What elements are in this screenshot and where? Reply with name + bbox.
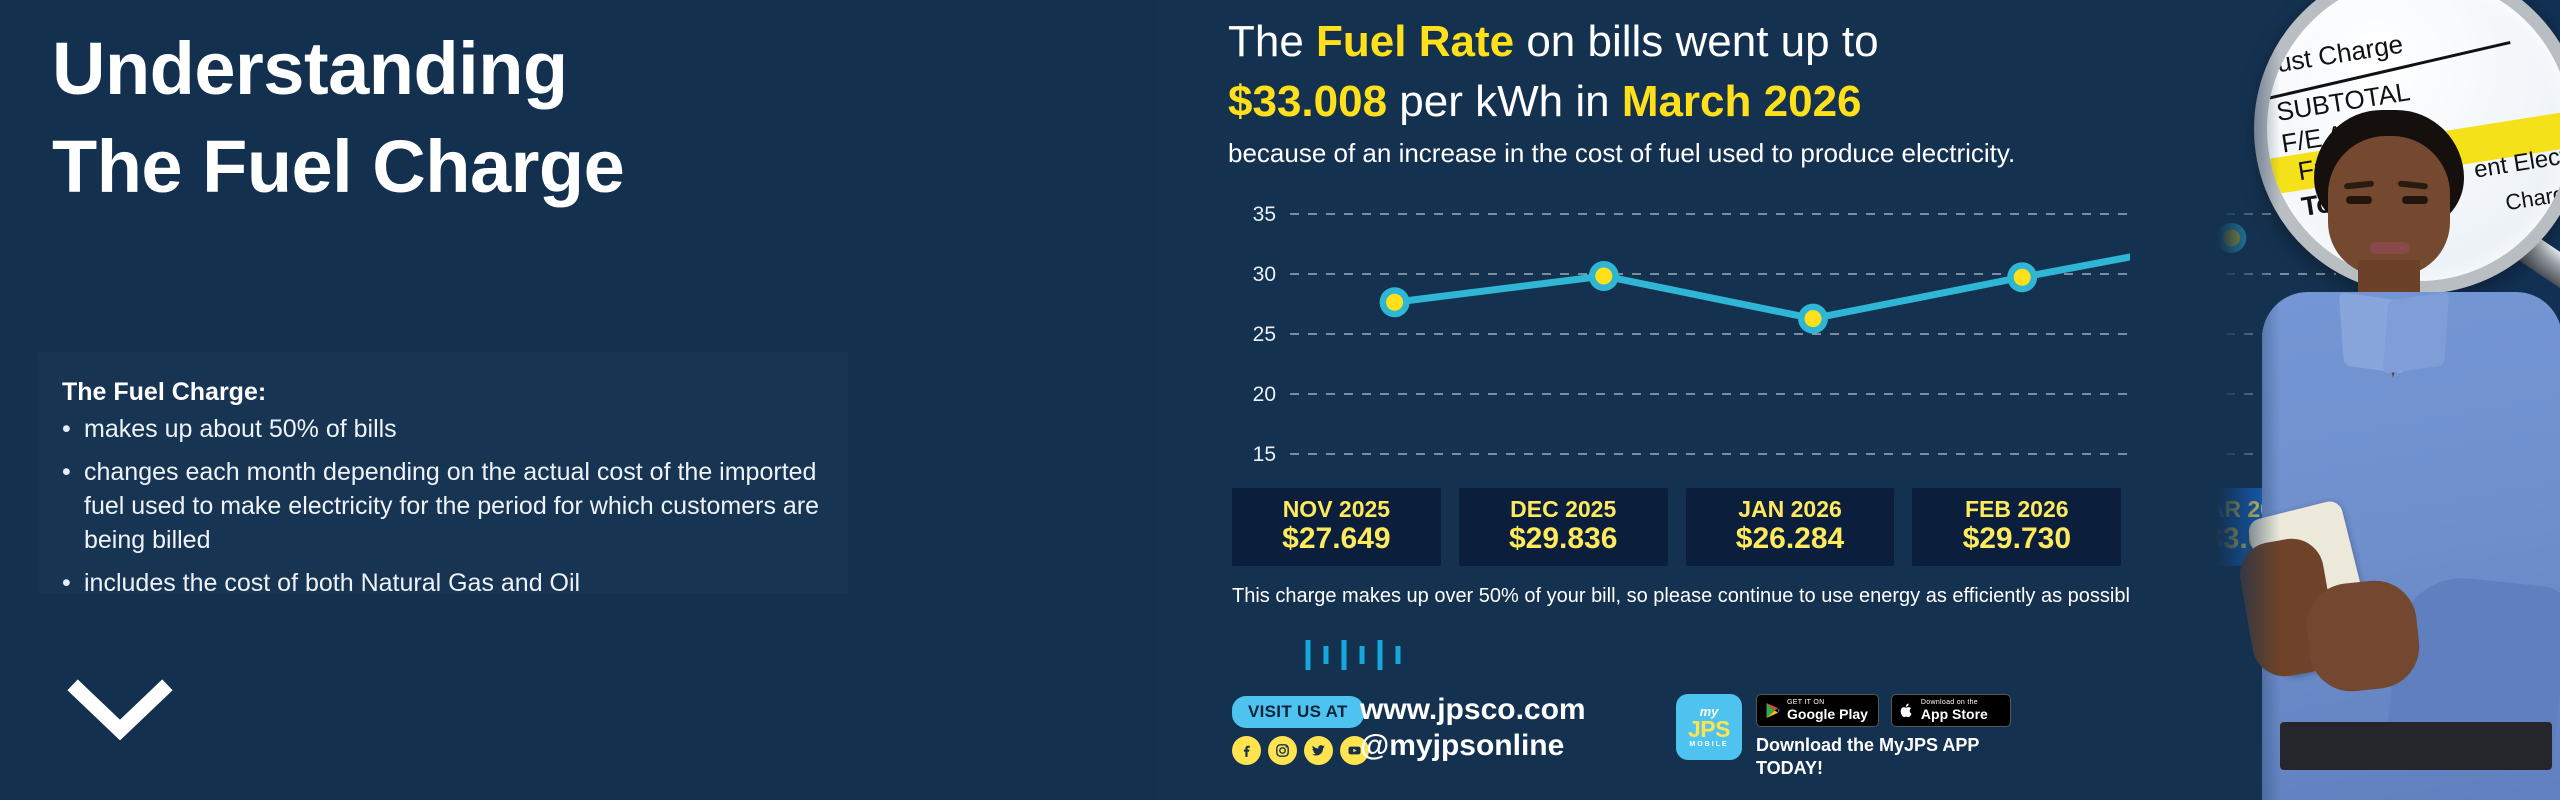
list-item: • includes the cost of both Natural Gas … bbox=[62, 566, 822, 600]
headline-line-1: Understanding bbox=[52, 20, 1092, 118]
store-badges-column: GET IT ON Google Play Download on the Ap… bbox=[1756, 694, 2011, 780]
month-label: DEC 2025 bbox=[1463, 496, 1664, 522]
bullet-icon: • bbox=[62, 566, 84, 600]
bullet-icon: • bbox=[62, 412, 84, 446]
headline-line-2: The Fuel Charge bbox=[52, 118, 1092, 216]
person-face bbox=[2328, 136, 2450, 276]
app-store-bottom: App Store bbox=[1921, 707, 1988, 722]
svg-text:15: 15 bbox=[1253, 443, 1276, 466]
left-panel: Understanding The Fuel Charge The Fuel C… bbox=[0, 0, 1156, 800]
contact-links: www.jpsco.com @myjpsonline bbox=[1360, 692, 1586, 764]
svg-text:25: 25 bbox=[1253, 323, 1276, 346]
svg-text:35: 35 bbox=[1253, 203, 1276, 226]
month-value: $29.836 bbox=[1463, 522, 1664, 556]
chart-y-axis-labels: 3530252015 bbox=[1253, 203, 1276, 466]
bullet-icon: • bbox=[62, 455, 84, 489]
person-mouth bbox=[2370, 242, 2410, 254]
person-hand-right bbox=[2303, 577, 2424, 696]
apple-icon bbox=[1900, 702, 1914, 719]
instagram-icon[interactable] bbox=[1268, 736, 1297, 765]
download-cta-line-2: TODAY! bbox=[1756, 757, 2011, 780]
download-cta: Download the MyJPS APP TODAY! bbox=[1756, 734, 2011, 780]
social-handle[interactable]: @myjpsonline bbox=[1360, 728, 1586, 764]
rate-line1-pre: The bbox=[1228, 17, 1316, 66]
rate-line2-mid: per kWh in bbox=[1387, 77, 1622, 126]
month-box-jan[interactable]: JAN 2026 $26.284 bbox=[1686, 488, 1895, 566]
website-link[interactable]: www.jpsco.com bbox=[1360, 692, 1586, 728]
store-badges-row: GET IT ON Google Play Download on the Ap… bbox=[1756, 694, 2011, 727]
svg-text:20: 20 bbox=[1253, 383, 1276, 406]
month-box-dec[interactable]: DEC 2025 $29.836 bbox=[1459, 488, 1668, 566]
myjps-logo-jps: JPS bbox=[1688, 718, 1730, 740]
twitter-icon[interactable] bbox=[1304, 736, 1333, 765]
page-title: Understanding The Fuel Charge bbox=[52, 20, 1092, 215]
myjps-logo-mobile: MOBILE bbox=[1689, 740, 1728, 749]
google-play-bottom: Google Play bbox=[1787, 707, 1868, 722]
person-eye-left bbox=[2346, 196, 2372, 204]
app-store-button[interactable]: Download on the App Store bbox=[1891, 694, 2011, 727]
rate-month: March 2026 bbox=[1622, 77, 1862, 126]
myjps-app-logo: my JPS MOBILE bbox=[1676, 694, 1742, 760]
month-label: FEB 2026 bbox=[1916, 496, 2117, 522]
month-label: NOV 2025 bbox=[1236, 496, 1437, 522]
rate-line1-highlight: Fuel Rate bbox=[1316, 17, 1514, 66]
month-label: JAN 2026 bbox=[1690, 496, 1891, 522]
social-links bbox=[1232, 736, 1369, 765]
visit-us-badge[interactable]: VISIT US AT bbox=[1232, 696, 1364, 728]
month-value: $29.730 bbox=[1916, 522, 2117, 556]
google-play-icon bbox=[1765, 702, 1780, 719]
banner-root: Understanding The Fuel Charge The Fuel C… bbox=[0, 0, 2560, 800]
list-item: • changes each month depending on the ac… bbox=[62, 455, 822, 557]
facts-title: The Fuel Charge: bbox=[62, 378, 266, 407]
panel-edge-fade bbox=[2130, 0, 2280, 800]
list-item-label: changes each month depending on the actu… bbox=[84, 455, 822, 557]
list-item: • makes up about 50% of bills bbox=[62, 412, 822, 446]
chart-markers bbox=[1380, 223, 2247, 334]
rate-line1-post: on bills went up to bbox=[1514, 17, 1878, 66]
month-box-nov[interactable]: NOV 2025 $27.649 bbox=[1232, 488, 1441, 566]
person-collar-right bbox=[2383, 292, 2449, 374]
app-promo: my JPS MOBILE bbox=[1676, 694, 2011, 780]
month-value: $26.284 bbox=[1690, 522, 1891, 556]
download-cta-line-1: Download the MyJPS APP bbox=[1756, 734, 2011, 757]
svg-text:30: 30 bbox=[1253, 263, 1276, 286]
rate-amount: $33.008 bbox=[1228, 77, 1387, 126]
chevron-down-icon[interactable] bbox=[60, 660, 180, 760]
person-eye-right bbox=[2402, 196, 2428, 204]
facts-list: • makes up about 50% of bills • changes … bbox=[62, 412, 822, 609]
facebook-icon[interactable] bbox=[1232, 736, 1261, 765]
list-item-label: includes the cost of both Natural Gas an… bbox=[84, 566, 580, 600]
list-item-label: makes up about 50% of bills bbox=[84, 412, 397, 446]
person-belt bbox=[2280, 722, 2552, 770]
month-box-feb[interactable]: FEB 2026 $29.730 bbox=[1912, 488, 2121, 566]
customer-photo bbox=[2246, 110, 2560, 800]
google-play-button[interactable]: GET IT ON Google Play bbox=[1756, 694, 1879, 727]
month-value: $27.649 bbox=[1236, 522, 1437, 556]
